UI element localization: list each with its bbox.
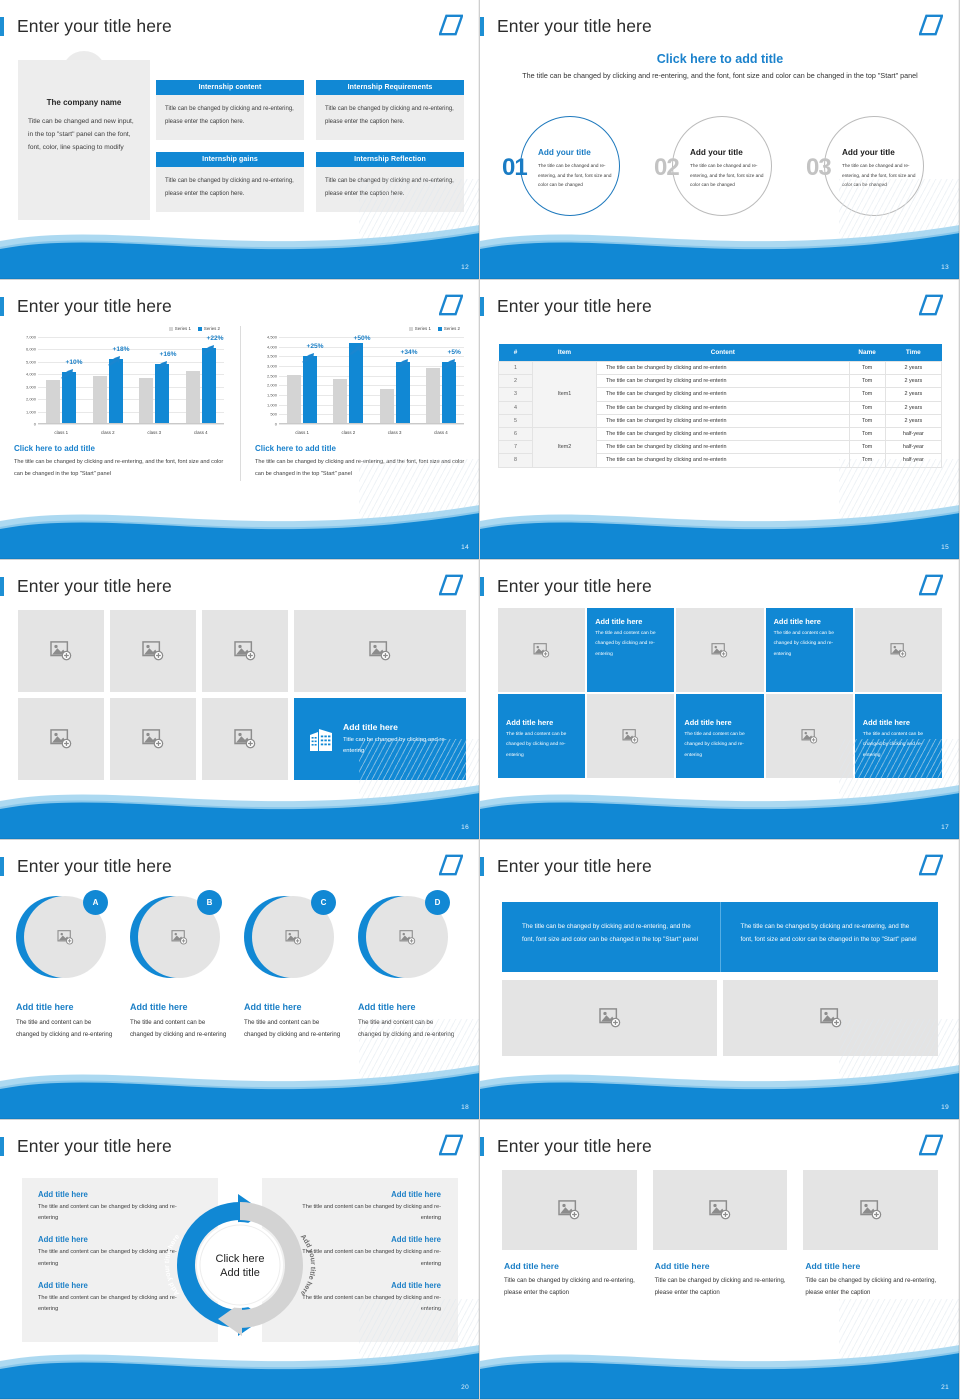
image-placeholder-icon	[142, 641, 164, 661]
image-placeholder[interactable]	[855, 608, 942, 692]
title-accent-bar	[0, 1137, 4, 1156]
step-item[interactable]: 02Add your titleThe title can be changed…	[650, 114, 790, 220]
media-card-body: Title can be changed by clicking and re-…	[502, 1275, 637, 1300]
company-name: The company name	[28, 98, 140, 107]
title-accent-bar	[480, 297, 484, 316]
x-axis-tick: class 3	[372, 430, 418, 435]
title-accent-bar	[480, 577, 484, 596]
table-cell-name: Tom	[849, 375, 885, 388]
image-placeholder-wide[interactable]	[294, 610, 466, 692]
image-placeholder-icon	[369, 641, 391, 661]
page-title: Enter your title here	[17, 16, 172, 37]
slide-header: Enter your title here	[0, 1132, 172, 1160]
image-placeholder-icon	[234, 641, 256, 661]
table-cell-item: Item2	[533, 427, 597, 467]
parallelogram-logo-icon	[919, 854, 943, 876]
page-title: Enter your title here	[17, 576, 172, 597]
table-cell-content: The title can be changed by clicking and…	[597, 388, 850, 401]
image-placeholder[interactable]	[502, 1170, 637, 1250]
media-card-body: Title can be changed by clicking and re-…	[653, 1275, 788, 1300]
growth-annotation: +34%	[401, 349, 418, 356]
feature-title: Add title here	[130, 1002, 230, 1012]
table-cell-time: half-year	[885, 441, 941, 454]
info-card-body: Title can be changed by clicking and re-…	[156, 95, 304, 140]
slide-19[interactable]: Enter your title hereThe title can be ch…	[480, 840, 960, 1120]
table-cell-time: 2 years	[885, 401, 941, 414]
chart-panel[interactable]: Series 1Series 24,5004,0003,5003,0002,50…	[240, 326, 480, 481]
section-subheading: The title can be changed by clicking and…	[480, 70, 960, 83]
table-cell-name: Tom	[849, 362, 885, 375]
table-cell-content: The title can be changed by clicking and…	[597, 414, 850, 427]
page-title: Enter your title here	[17, 296, 172, 317]
slide-header: Enter your title here	[0, 292, 172, 320]
page-title: Enter your title here	[17, 1136, 172, 1157]
blue-text-banner: The title can be changed by clicking and…	[502, 902, 938, 972]
text-tile-body: The title and content can be changed by …	[774, 629, 845, 660]
info-card-title: Internship Requirements	[316, 80, 464, 95]
step-number: 02	[654, 154, 679, 182]
image-placeholder[interactable]	[202, 698, 288, 780]
page-number: 15	[941, 544, 949, 551]
growth-annotation: +10%	[66, 359, 83, 366]
y-axis-tick: 4,000	[14, 372, 36, 377]
bar-chart: 7,0006,0005,0004,0003,0002,0001,0000+10%…	[14, 333, 226, 437]
table-cell-index: 5	[499, 414, 533, 427]
table-row[interactable]: 6Item2The title can be changed by clicki…	[499, 427, 942, 440]
page-number: 21	[941, 1384, 949, 1391]
page-number: 17	[941, 824, 949, 831]
footer-wave-decoration: 17	[480, 777, 960, 839]
step-number: 03	[806, 154, 831, 182]
highlight-card-title: Add title here	[343, 722, 452, 732]
media-card-title: Add title here	[502, 1261, 637, 1271]
image-placeholder[interactable]	[18, 610, 104, 692]
footer-wave-decoration: 12	[0, 217, 480, 279]
page-title: Enter your title here	[497, 16, 652, 37]
info-card-body: Title can be changed by clicking and re-…	[156, 167, 304, 212]
image-placeholder-icon	[285, 930, 302, 945]
step-title: Add your title	[842, 148, 895, 157]
feature-circle[interactable]: D	[358, 890, 458, 986]
table-cell-item: Item1	[533, 362, 597, 428]
growth-arrow-icon	[108, 353, 121, 363]
page-number: 13	[941, 264, 949, 271]
image-placeholder[interactable]	[110, 610, 196, 692]
image-placeholder-icon	[801, 729, 818, 744]
x-axis-tick: class 4	[178, 430, 225, 435]
growth-annotation: +25%	[307, 343, 324, 350]
step-body: The title can be changed and re-entering…	[538, 161, 612, 190]
title-accent-bar	[0, 17, 4, 36]
table-header-cell: Content	[597, 344, 850, 362]
x-axis-tick: class 2	[325, 430, 371, 435]
text-tile-title: Add title here	[774, 617, 845, 626]
y-axis-tick: 2,000	[255, 383, 277, 388]
chart-subtitle: The title can be changed by clicking and…	[14, 456, 226, 481]
slide-14[interactable]: Enter your title hereSeries 1Series 27,0…	[0, 280, 480, 560]
growth-annotation: +50%	[354, 335, 371, 342]
parallelogram-logo-icon	[439, 574, 463, 596]
footer-wave-decoration: 16	[0, 777, 480, 839]
y-axis-tick: 3,000	[14, 384, 36, 389]
table-cell-time: 2 years	[885, 375, 941, 388]
growth-arrow-icon	[155, 358, 168, 368]
growth-arrow-icon	[396, 356, 409, 366]
company-panel[interactable]: The company nameTitle can be changed and…	[18, 60, 150, 220]
slide-17[interactable]: Enter your title hereAdd title hereThe t…	[480, 560, 960, 840]
slide-header: Enter your title here	[0, 572, 172, 600]
feature-circle[interactable]: B	[130, 890, 230, 986]
slide-header: Enter your title here	[480, 852, 652, 880]
footer-wave-decoration: 13	[480, 217, 960, 279]
page-number: 16	[461, 824, 469, 831]
circle-badge: B	[197, 890, 222, 915]
media-card-body: Title can be changed by clicking and re-…	[803, 1275, 938, 1300]
growth-annotation: +22%	[207, 335, 224, 342]
table-cell-index: 1	[499, 362, 533, 375]
image-placeholder-icon	[709, 1200, 731, 1220]
image-placeholder-icon	[890, 643, 907, 658]
data-table[interactable]: #ItemContentNameTime1Item1The title can …	[498, 344, 942, 468]
text-tile-body: The title and content can be changed by …	[684, 730, 755, 761]
media-card-title: Add title here	[653, 1261, 788, 1271]
circle-badge: D	[425, 890, 450, 915]
page-title: Enter your title here	[497, 856, 652, 877]
table-cell-content: The title can be changed by clicking and…	[597, 401, 850, 414]
image-placeholder[interactable]	[803, 1170, 938, 1250]
footer-wave-decoration: 21	[480, 1337, 960, 1399]
text-tile[interactable]: Add title hereThe title and content can …	[676, 694, 763, 778]
growth-arrow-icon	[61, 366, 74, 376]
image-placeholder[interactable]	[110, 698, 196, 780]
image-placeholder-icon	[57, 930, 74, 945]
feature-title: Add title here	[358, 1002, 458, 1012]
table-header-cell: Item	[533, 344, 597, 362]
x-axis-tick: class 2	[85, 430, 132, 435]
gridline	[279, 424, 464, 425]
info-card-title: Internship content	[156, 80, 304, 95]
image-placeholder-icon	[860, 1200, 882, 1220]
info-card[interactable]: Internship gainsTitle can be changed by …	[156, 152, 304, 212]
text-tile-title: Add title here	[506, 718, 577, 727]
table-cell-index: 3	[499, 388, 533, 401]
x-axis-tick: class 3	[131, 430, 178, 435]
y-axis-tick: 3,000	[255, 364, 277, 369]
title-accent-bar	[0, 857, 4, 876]
feature-body: The title and content can be changed by …	[16, 1017, 116, 1041]
building-icon	[308, 726, 334, 752]
footer-wave-decoration: 19	[480, 1057, 960, 1119]
y-axis-tick: 7,000	[14, 335, 36, 340]
y-axis-tick: 0	[255, 422, 277, 427]
text-tile-title: Add title here	[684, 718, 755, 727]
gridline	[38, 424, 224, 425]
y-axis-tick: 1,000	[255, 402, 277, 407]
y-axis-tick: 0	[14, 422, 36, 427]
circle-badge: A	[83, 890, 108, 915]
step-title: Add your title	[538, 148, 591, 157]
page-number: 18	[461, 1104, 469, 1111]
text-tile-title: Add title here	[595, 617, 666, 626]
bar-chart: 4,5004,0003,5003,0002,5002,0001,5001,000…	[255, 333, 466, 437]
text-block[interactable]: The title can be changed by clicking and…	[720, 902, 939, 972]
info-card-title: Internship Reflection	[316, 152, 464, 167]
text-tile[interactable]: Add title hereThe title and content can …	[766, 608, 853, 692]
feature-column[interactable]: BAdd title hereThe title and content can…	[130, 890, 230, 1041]
text-tile-body: The title and content can be changed by …	[595, 629, 666, 660]
step-body: The title can be changed and re-entering…	[690, 161, 764, 190]
table-cell-content: The title can be changed by clicking and…	[597, 441, 850, 454]
image-placeholder-icon	[558, 1200, 580, 1220]
image-placeholder-icon	[171, 930, 188, 945]
slide-16[interactable]: Enter your title hereAdd title hereTitle…	[0, 560, 480, 840]
table-cell-time: 2 years	[885, 362, 941, 375]
media-card[interactable]: Add title hereTitle can be changed by cl…	[502, 1170, 637, 1300]
growth-arrow-icon	[349, 342, 362, 352]
step-number: 01	[502, 154, 527, 182]
page-number: 12	[461, 264, 469, 271]
annotation-layer: +25%+50%+34%+5%	[279, 333, 464, 424]
chart-title[interactable]: Click here to add title	[14, 444, 226, 453]
slide-header: Enter your title here	[0, 852, 172, 880]
page-number: 19	[941, 1104, 949, 1111]
title-accent-bar	[480, 17, 484, 36]
table-cell-time: 2 years	[885, 388, 941, 401]
info-card-body: Title can be changed by clicking and re-…	[316, 95, 464, 140]
footer-wave-decoration: 20	[0, 1337, 480, 1399]
slide-21[interactable]: Enter your title hereAdd title hereTitle…	[480, 1120, 960, 1400]
info-card[interactable]: Internship RequirementsTitle can be chan…	[316, 80, 464, 140]
table-header-cell: Name	[849, 344, 885, 362]
footer-wave-decoration: 14	[0, 497, 480, 559]
legend-item-series-2: Series 2	[438, 326, 460, 331]
y-axis-tick: 6,000	[14, 347, 36, 352]
slide-13[interactable]: Enter your title hereClick here to add t…	[480, 0, 960, 280]
step-item[interactable]: 01Add your titleThe title can be changed…	[498, 114, 638, 220]
parallelogram-logo-icon	[919, 574, 943, 596]
page-title: Enter your title here	[17, 856, 172, 877]
feature-circle[interactable]: A	[16, 890, 116, 986]
slide-header: Enter your title here	[480, 572, 652, 600]
legend-item-series-1: Series 1	[169, 326, 191, 331]
chart-legend: Series 1Series 2	[14, 326, 226, 331]
text-block[interactable]: The title can be changed by clicking and…	[502, 902, 720, 972]
media-card-row: Add title hereTitle can be changed by cl…	[502, 1170, 938, 1300]
growth-arrow-icon	[302, 350, 315, 360]
parallelogram-logo-icon	[439, 14, 463, 36]
legend-item-series-2: Series 2	[198, 326, 220, 331]
feature-column[interactable]: CAdd title hereThe title and content can…	[244, 890, 344, 1041]
slide-12[interactable]: Enter your title hereThe company nameTit…	[0, 0, 480, 280]
parallelogram-logo-icon	[919, 294, 943, 316]
table-header-cell: #	[499, 344, 533, 362]
table-header-row: #ItemContentNameTime	[499, 344, 942, 362]
table-cell-name: Tom	[849, 441, 885, 454]
growth-arrow-icon	[202, 342, 215, 352]
footer-wave-decoration: 15	[480, 497, 960, 559]
title-accent-bar	[0, 297, 4, 316]
title-accent-bar	[0, 577, 4, 596]
chart-panel[interactable]: Series 1Series 27,0006,0005,0004,0003,00…	[0, 326, 240, 481]
slide-15[interactable]: Enter your title here#ItemContentNameTim…	[480, 280, 960, 560]
table-cell-index: 7	[499, 441, 533, 454]
table-cell-index: 8	[499, 454, 533, 467]
company-description: Title can be changed and new input, in t…	[28, 116, 140, 155]
title-accent-bar	[480, 1137, 484, 1156]
image-placeholder[interactable]	[653, 1170, 788, 1250]
image-placeholder-icon	[399, 930, 416, 945]
circular-arrow-diagram[interactable]: Add your title hereAdd your title hereCl…	[160, 1190, 320, 1335]
info-card[interactable]: Internship contentTitle can be changed b…	[156, 80, 304, 140]
table-cell-content: The title can be changed by clicking and…	[597, 362, 850, 375]
growth-annotation: +5%	[448, 349, 461, 356]
feature-title: Add title here	[16, 1002, 116, 1012]
table-cell-index: 6	[499, 427, 533, 440]
x-axis-labels: class 1class 2class 3class 4	[38, 430, 224, 435]
parallelogram-logo-icon	[439, 854, 463, 876]
image-placeholder-icon	[533, 643, 550, 658]
slide-header: Enter your title here	[480, 292, 652, 320]
image-placeholder-icon	[50, 641, 72, 661]
page-number: 14	[461, 544, 469, 551]
table-row[interactable]: 1Item1The title can be changed by clicki…	[499, 362, 942, 375]
image-placeholder[interactable]	[502, 980, 717, 1056]
image-placeholder-icon	[142, 729, 164, 749]
y-axis-tick: 2,500	[255, 373, 277, 378]
table-cell-content: The title can be changed by clicking and…	[597, 375, 850, 388]
x-axis-tick: class 1	[38, 430, 85, 435]
x-axis-tick: class 4	[418, 430, 464, 435]
growth-annotation: +16%	[160, 351, 177, 358]
media-card-title: Add title here	[803, 1261, 938, 1271]
growth-arrow-icon	[443, 356, 456, 366]
image-placeholder[interactable]	[587, 694, 674, 778]
image-placeholder-icon	[622, 729, 639, 744]
table-cell-name: Tom	[849, 401, 885, 414]
y-axis-tick: 5,000	[14, 359, 36, 364]
image-placeholder[interactable]	[676, 608, 763, 692]
parallelogram-logo-icon	[439, 1134, 463, 1156]
table-cell-content: The title can be changed by clicking and…	[597, 427, 850, 440]
slide-18[interactable]: Enter your title hereAAdd title hereThe …	[0, 840, 480, 1120]
text-tile[interactable]: Add title hereThe title and content can …	[498, 694, 585, 778]
y-axis-tick: 1,500	[255, 393, 277, 398]
charts-row: Series 1Series 27,0006,0005,0004,0003,00…	[0, 326, 480, 481]
x-axis-labels: class 1class 2class 3class 4	[279, 430, 464, 435]
table-cell-time: 2 years	[885, 414, 941, 427]
center-line-2: Add title	[220, 1267, 260, 1279]
table-cell-index: 4	[499, 401, 533, 414]
section-heading[interactable]: Click here to add title	[480, 52, 960, 66]
step-title: Add your title	[690, 148, 743, 157]
image-placeholder[interactable]	[498, 608, 585, 692]
footer-wave-decoration: 18	[0, 1057, 480, 1119]
info-card-title: Internship gains	[156, 152, 304, 167]
y-axis-tick: 2,000	[14, 397, 36, 402]
image-placeholder-icon	[50, 729, 72, 749]
parallelogram-logo-icon	[919, 14, 943, 36]
parallelogram-logo-icon	[919, 1134, 943, 1156]
image-placeholder-icon	[234, 729, 256, 749]
image-placeholder-icon	[711, 643, 728, 658]
text-tile-title: Add title here	[863, 718, 934, 727]
slide-thumbnail-deck: Enter your title hereThe company nameTit…	[0, 0, 960, 1400]
growth-annotation: +18%	[113, 346, 130, 353]
center-line-1: Click here	[216, 1253, 265, 1265]
media-card[interactable]: Add title hereTitle can be changed by cl…	[653, 1170, 788, 1300]
chart-legend: Series 1Series 2	[255, 326, 466, 331]
y-axis-tick: 500	[255, 412, 277, 417]
chart-title[interactable]: Click here to add title	[255, 444, 466, 453]
y-axis-tick: 1,000	[14, 409, 36, 414]
title-accent-bar	[480, 857, 484, 876]
page-title: Enter your title here	[497, 576, 652, 597]
image-placeholder[interactable]	[18, 698, 104, 780]
slide-header: Enter your title here	[480, 1132, 652, 1160]
y-axis-tick: 4,500	[255, 335, 277, 340]
table-cell-name: Tom	[849, 427, 885, 440]
feature-body: The title and content can be changed by …	[130, 1017, 230, 1041]
image-placeholder-icon	[599, 1008, 621, 1028]
y-axis-tick: 3,500	[255, 354, 277, 359]
page-title: Enter your title here	[497, 296, 652, 317]
legend-item-series-1: Series 1	[409, 326, 431, 331]
table-cell-index: 2	[499, 375, 533, 388]
page-number: 20	[461, 1384, 469, 1391]
media-card[interactable]: Add title hereTitle can be changed by cl…	[803, 1170, 938, 1300]
annotation-layer: +10%+18%+16%+22%	[38, 333, 224, 424]
text-tile-body: The title and content can be changed by …	[506, 730, 577, 761]
y-axis-tick: 4,000	[255, 344, 277, 349]
feature-column[interactable]: AAdd title hereThe title and content can…	[16, 890, 116, 1041]
feature-circle[interactable]: C	[244, 890, 344, 986]
table-cell-content: The title can be changed by clicking and…	[597, 454, 850, 467]
slide-header: Enter your title here	[480, 12, 652, 40]
slide-header: Enter your title here	[0, 12, 172, 40]
slide-20[interactable]: Enter your title hereAdd title hereThe t…	[0, 1120, 480, 1400]
parallelogram-logo-icon	[439, 294, 463, 316]
x-axis-tick: class 1	[279, 430, 325, 435]
table-cell-name: Tom	[849, 414, 885, 427]
circle-badge: C	[311, 890, 336, 915]
text-tile[interactable]: Add title hereThe title and content can …	[587, 608, 674, 692]
page-title: Enter your title here	[497, 1136, 652, 1157]
feature-body: The title and content can be changed by …	[244, 1017, 344, 1041]
feature-title: Add title here	[244, 1002, 344, 1012]
image-placeholder[interactable]	[202, 610, 288, 692]
table-cell-time: half-year	[885, 427, 941, 440]
table-header-cell: Time	[885, 344, 941, 362]
table-cell-name: Tom	[849, 388, 885, 401]
